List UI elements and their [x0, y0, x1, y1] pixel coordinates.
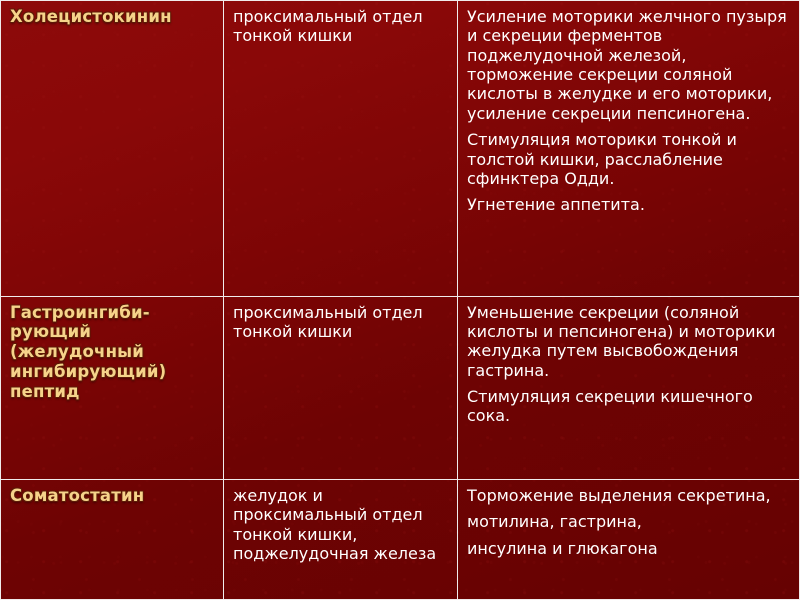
effect-paragraph: мотилина, гастрина, [467, 512, 791, 531]
effects-cell: Усиление моторики желчного пузыря и секр… [458, 1, 800, 297]
slide-canvas: Холецистокинин проксимальный отдел тонко… [0, 0, 800, 600]
hormone-name-cell: Гастроингиби-рующий (желудочный ингибиру… [1, 296, 224, 479]
table-row: Гастроингиби-рующий (желудочный ингибиру… [1, 296, 800, 479]
effect-paragraph: Стимуляция секреции кишечного сока. [467, 387, 791, 426]
effect-paragraph: Угнетение аппетита. [467, 195, 791, 214]
production-site-cell: проксимальный отдел тонкой кишки [224, 296, 458, 479]
effects-cell: Уменьшение секреции (соляной кислоты и п… [458, 296, 800, 479]
table-row: Холецистокинин проксимальный отдел тонко… [1, 1, 800, 297]
effect-paragraph: Уменьшение секреции (соляной кислоты и п… [467, 303, 791, 380]
hormone-name-cell: Соматостатин [1, 479, 224, 599]
production-site-cell: желудок и проксимальный отдел тонкой киш… [224, 479, 458, 599]
hormones-table: Холецистокинин проксимальный отдел тонко… [0, 0, 800, 600]
effect-paragraph: Усиление моторики желчного пузыря и секр… [467, 7, 791, 123]
effects-cell: Торможение выделения секретина, мотилина… [458, 479, 800, 599]
effect-paragraph: инсулина и глюкагона [467, 539, 791, 558]
table-row: Соматостатин желудок и проксимальный отд… [1, 479, 800, 599]
effect-paragraph: Стимуляция моторики тонкой и толстой киш… [467, 130, 791, 188]
effect-paragraph: Торможение выделения секретина, [467, 486, 791, 505]
production-site-cell: проксимальный отдел тонкой кишки [224, 1, 458, 297]
hormone-name-cell: Холецистокинин [1, 1, 224, 297]
